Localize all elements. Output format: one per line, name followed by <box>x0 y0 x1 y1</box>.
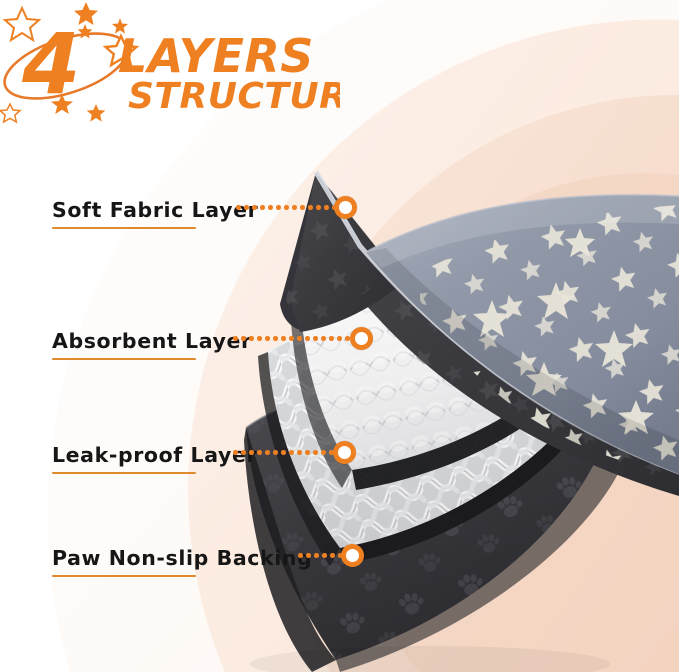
callout-paw-non-slip-backing: Paw Non-slip Backing <box>0 0 679 672</box>
callout-underline-paw-non-slip-backing <box>52 575 196 577</box>
callout-marker-paw-non-slip-backing[interactable] <box>341 544 364 567</box>
infographic-canvas: 4 LAYERS STR <box>0 0 679 672</box>
callout-label-paw-non-slip-backing: Paw Non-slip Backing <box>52 546 312 570</box>
